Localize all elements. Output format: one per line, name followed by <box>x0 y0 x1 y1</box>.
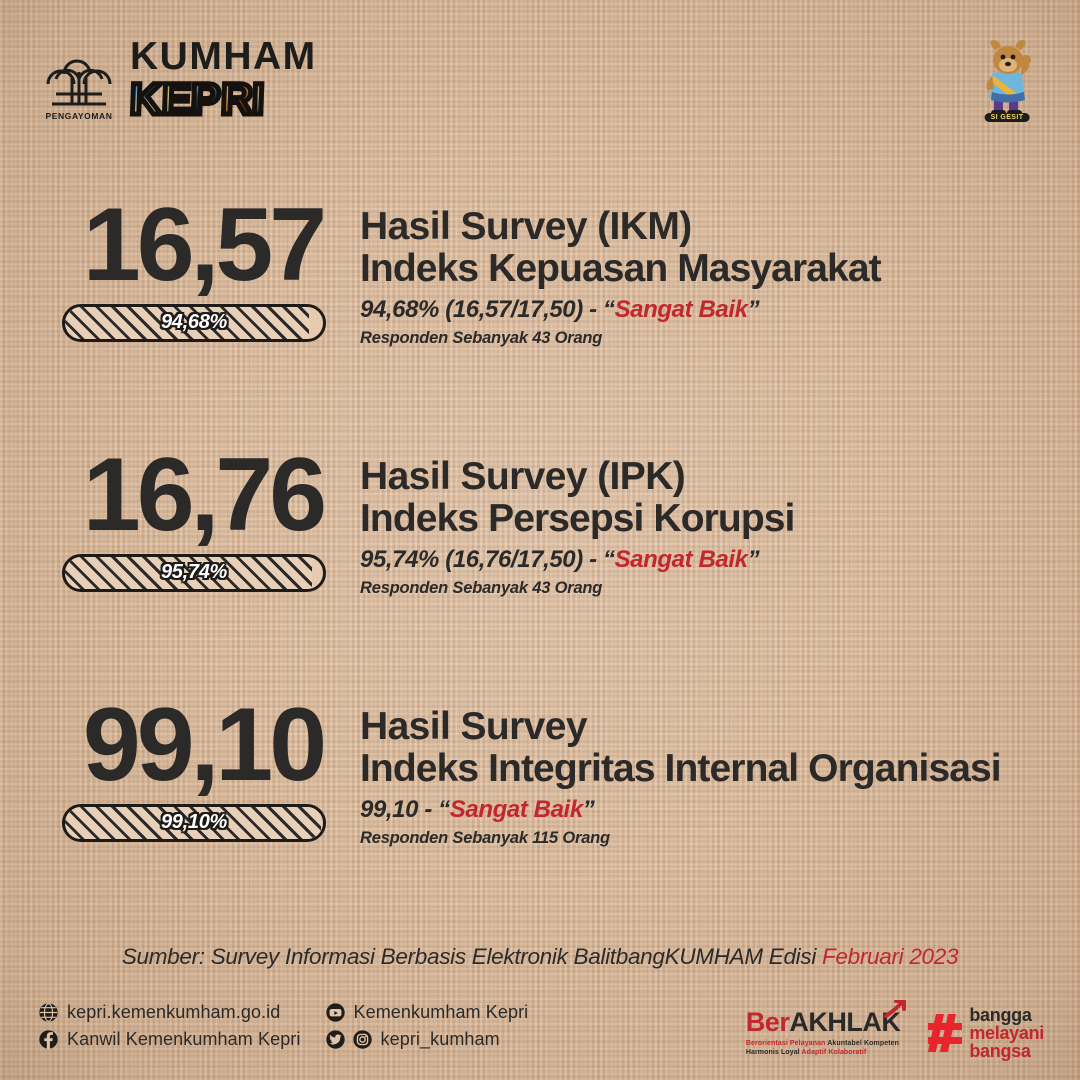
progress-bar-label: 99,10% <box>65 807 323 839</box>
subline-prefix: 99,10 - “ <box>360 796 450 823</box>
contact-social-handle[interactable]: kepri_kumham <box>325 1029 529 1050</box>
facebook-icon <box>38 1029 59 1050</box>
kepri-letter-r: R <box>220 78 253 122</box>
survey-subline: 95,74% (16,76/17,50) - “Sangat Baik” <box>360 546 1040 574</box>
rating-label: Sangat Baik <box>615 546 748 573</box>
kumham-kepri-wordmark: KUMHAM K E P R I <box>130 38 317 122</box>
berakhlak-prefix: Ber <box>746 1007 790 1037</box>
subline-suffix: ” <box>748 296 760 323</box>
youtube-icon-svg <box>325 1002 346 1023</box>
instagram-icon <box>352 1029 373 1050</box>
score-and-progress: 16,57 94,68% <box>0 196 360 342</box>
berakhlak-tagline-line2: Harmonis Loyal Adaptif Kolaboratif <box>746 1048 901 1057</box>
subline-prefix: 94,68% (16,57/17,50) - “ <box>360 296 615 323</box>
mascot-deer-icon <box>976 36 1038 122</box>
contact-list: kepri.kemenkumham.go.id Kanwil Kemenkumh… <box>38 1002 528 1050</box>
contact-youtube[interactable]: Kemenkumham Kepri <box>325 1002 529 1023</box>
score-value: 16,57 <box>62 196 344 296</box>
survey-title-line1: Hasil Survey (IKM) <box>360 206 1040 248</box>
globe-icon <box>38 1002 59 1023</box>
source-text: Sumber: Survey Informasi Berbasis Elektr… <box>122 944 822 969</box>
respondent-count: Responden Sebanyak 43 Orang <box>360 579 1040 598</box>
subline-prefix: 95,74% (16,76/17,50) - “ <box>360 546 615 573</box>
swoosh-icon <box>884 1000 906 1018</box>
tagline2-red: Adaptif Kolaboratif <box>802 1049 867 1056</box>
bangga-line1: bangga <box>969 1006 1044 1024</box>
survey-title-line1: Hasil Survey (IPK) <box>360 456 1040 498</box>
respondent-count: Responden Sebanyak 115 Orang <box>360 829 1040 848</box>
infographic-poster: PENGAYOMAN KUMHAM K E P R I <box>0 0 1080 1080</box>
tagline1-red: Berorientasi Pelayanan <box>746 1040 826 1047</box>
hashtag-icon <box>928 1014 962 1052</box>
survey-title-line2: Indeks Integritas Internal Organisasi <box>360 748 1040 790</box>
survey-description: Hasil Survey (IPK) Indeks Persepsi Korup… <box>360 446 1080 598</box>
campaign-logos: BerAKHLAK Berorientasi Pelayanan Akuntab… <box>746 1006 1044 1060</box>
source-note: Sumber: Survey Informasi Berbasis Elektr… <box>0 944 1080 970</box>
contact-column-left: kepri.kemenkumham.go.id Kanwil Kemenkumh… <box>38 1002 301 1050</box>
score-value: 16,76 <box>62 446 344 546</box>
tagline2-dark: Harmonis Loyal <box>746 1049 802 1056</box>
survey-title-line2: Indeks Persepsi Korupsi <box>360 498 1040 540</box>
contact-website-label: kepri.kemenkumham.go.id <box>67 1002 280 1023</box>
progress-bar: 95,74% <box>62 554 326 592</box>
pengayoman-logo: PENGAYOMAN <box>42 42 116 120</box>
bangga-wordmark: bangga melayani bangsa <box>969 1006 1044 1060</box>
tagline1-dark: Akuntabel Kompeten <box>825 1040 899 1047</box>
berakhlak-logo: BerAKHLAK Berorientasi Pelayanan Akuntab… <box>746 1009 901 1058</box>
contact-social-label: kepri_kumham <box>381 1029 500 1050</box>
progress-bar-label: 94,68% <box>65 307 323 339</box>
facebook-icon-svg <box>38 1029 59 1050</box>
header-branding: PENGAYOMAN KUMHAM K E P R I <box>42 36 317 120</box>
kepri-letter-i: I <box>252 78 266 122</box>
source-date: Februari 2023 <box>822 944 958 969</box>
globe-icon-svg <box>38 1002 59 1023</box>
mascot-name-plate: SI GESIT <box>985 113 1030 122</box>
rating-label: Sangat Baik <box>615 296 748 323</box>
kepri-letter-e: E <box>161 78 192 122</box>
survey-results-list: 16,57 94,68% Hasil Survey (IKM) Indeks K… <box>0 196 1080 946</box>
youtube-icon <box>325 1002 346 1023</box>
social-icon-group <box>325 1029 373 1050</box>
respondent-count: Responden Sebanyak 43 Orang <box>360 329 1040 348</box>
pengayoman-caption: PENGAYOMAN <box>42 111 116 121</box>
berakhlak-tagline-line1: Berorientasi Pelayanan Akuntabel Kompete… <box>746 1039 901 1048</box>
contact-column-right: Kemenkumham Kepri <box>325 1002 529 1050</box>
contact-youtube-label: Kemenkumham Kepri <box>354 1002 529 1023</box>
survey-description: Hasil Survey Indeks Integritas Internal … <box>360 696 1080 848</box>
contact-facebook[interactable]: Kanwil Kemenkumham Kepri <box>38 1029 301 1050</box>
survey-subline: 99,10 - “Sangat Baik” <box>360 796 1040 824</box>
survey-subline: 94,68% (16,57/17,50) - “Sangat Baik” <box>360 296 1040 324</box>
berakhlak-tagline: Berorientasi Pelayanan Akuntabel Kompete… <box>746 1039 901 1058</box>
subline-suffix: ” <box>748 546 760 573</box>
kepri-letter-p: P <box>190 78 221 122</box>
contact-facebook-label: Kanwil Kemenkumham Kepri <box>67 1029 301 1050</box>
footer: kepri.kemenkumham.go.id Kanwil Kemenkumh… <box>0 1000 1080 1076</box>
contact-website[interactable]: kepri.kemenkumham.go.id <box>38 1002 301 1023</box>
bangga-melayani-bangsa-logo: bangga melayani bangsa <box>928 1006 1044 1060</box>
progress-bar-label: 95,74% <box>65 557 323 589</box>
twitter-icon <box>325 1029 346 1050</box>
subline-suffix: ” <box>583 796 595 823</box>
score-value: 99,10 <box>62 696 344 796</box>
score-and-progress: 16,76 95,74% <box>0 446 360 592</box>
survey-title-line1: Hasil Survey <box>360 706 1040 748</box>
bangga-line2: melayani <box>969 1024 1044 1042</box>
survey-description: Hasil Survey (IKM) Indeks Kepuasan Masya… <box>360 196 1080 348</box>
kepri-letter-k: K <box>129 78 162 122</box>
berakhlak-wordmark: BerAKHLAK <box>746 1009 901 1036</box>
survey-result-item: 16,57 94,68% Hasil Survey (IKM) Indeks K… <box>0 196 1080 446</box>
kumham-text: KUMHAM <box>130 38 317 76</box>
score-and-progress: 99,10 99,10% <box>0 696 360 842</box>
survey-result-item: 16,76 95,74% Hasil Survey (IPK) Indeks P… <box>0 446 1080 696</box>
mascot-icon: SI GESIT <box>976 36 1038 122</box>
survey-result-item: 99,10 99,10% Hasil Survey Indeks Integri… <box>0 696 1080 946</box>
kepri-text: K E P R I <box>130 78 317 122</box>
pengayoman-tree-icon <box>42 42 116 110</box>
progress-bar: 99,10% <box>62 804 326 842</box>
progress-bar: 94,68% <box>62 304 326 342</box>
rating-label: Sangat Baik <box>450 796 583 823</box>
survey-title-line2: Indeks Kepuasan Masyarakat <box>360 248 1040 290</box>
bangga-line3: bangsa <box>969 1042 1044 1060</box>
